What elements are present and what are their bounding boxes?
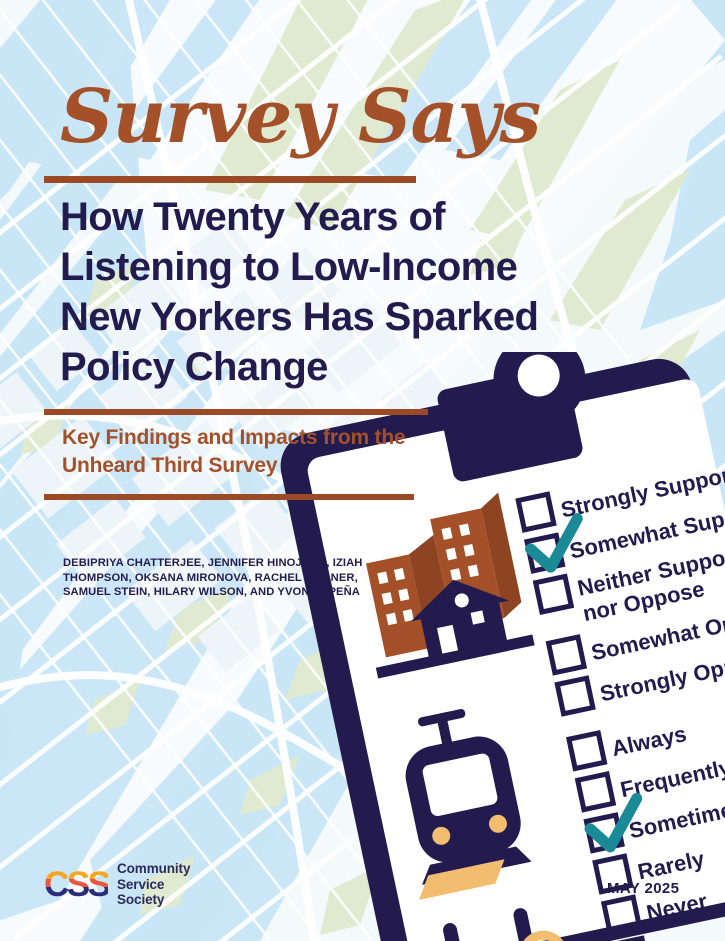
svg-text:CSS: CSS — [44, 865, 108, 904]
page-title: Survey Says — [60, 78, 540, 156]
css-logo-line-2: Service — [117, 877, 190, 893]
publication-date: MAY 2025 — [607, 880, 679, 897]
css-logo-line-3: Society — [117, 892, 190, 908]
cover-content: Survey Says How Twenty Years of Listenin… — [0, 0, 725, 941]
report-kicker: Key Findings and Impacts from the Unhear… — [62, 424, 462, 480]
css-logo-line-1: Community — [117, 861, 190, 877]
cover-page: Strongly Support Somewhat Support Neithe… — [0, 0, 725, 941]
css-logo-wordmark: Community Service Society — [117, 861, 190, 908]
divider-middle — [44, 409, 428, 415]
divider-bottom — [44, 494, 414, 500]
css-logo-mark: CSS — [44, 864, 108, 904]
page-subtitle: How Twenty Years of Listening to Low-Inc… — [60, 192, 600, 392]
divider-top — [44, 176, 416, 183]
css-logo[interactable]: CSS Community Service Society — [44, 861, 190, 908]
author-list: DEBIPRIYA CHATTERJEE, JENNIFER HINOJOSA,… — [63, 556, 363, 600]
